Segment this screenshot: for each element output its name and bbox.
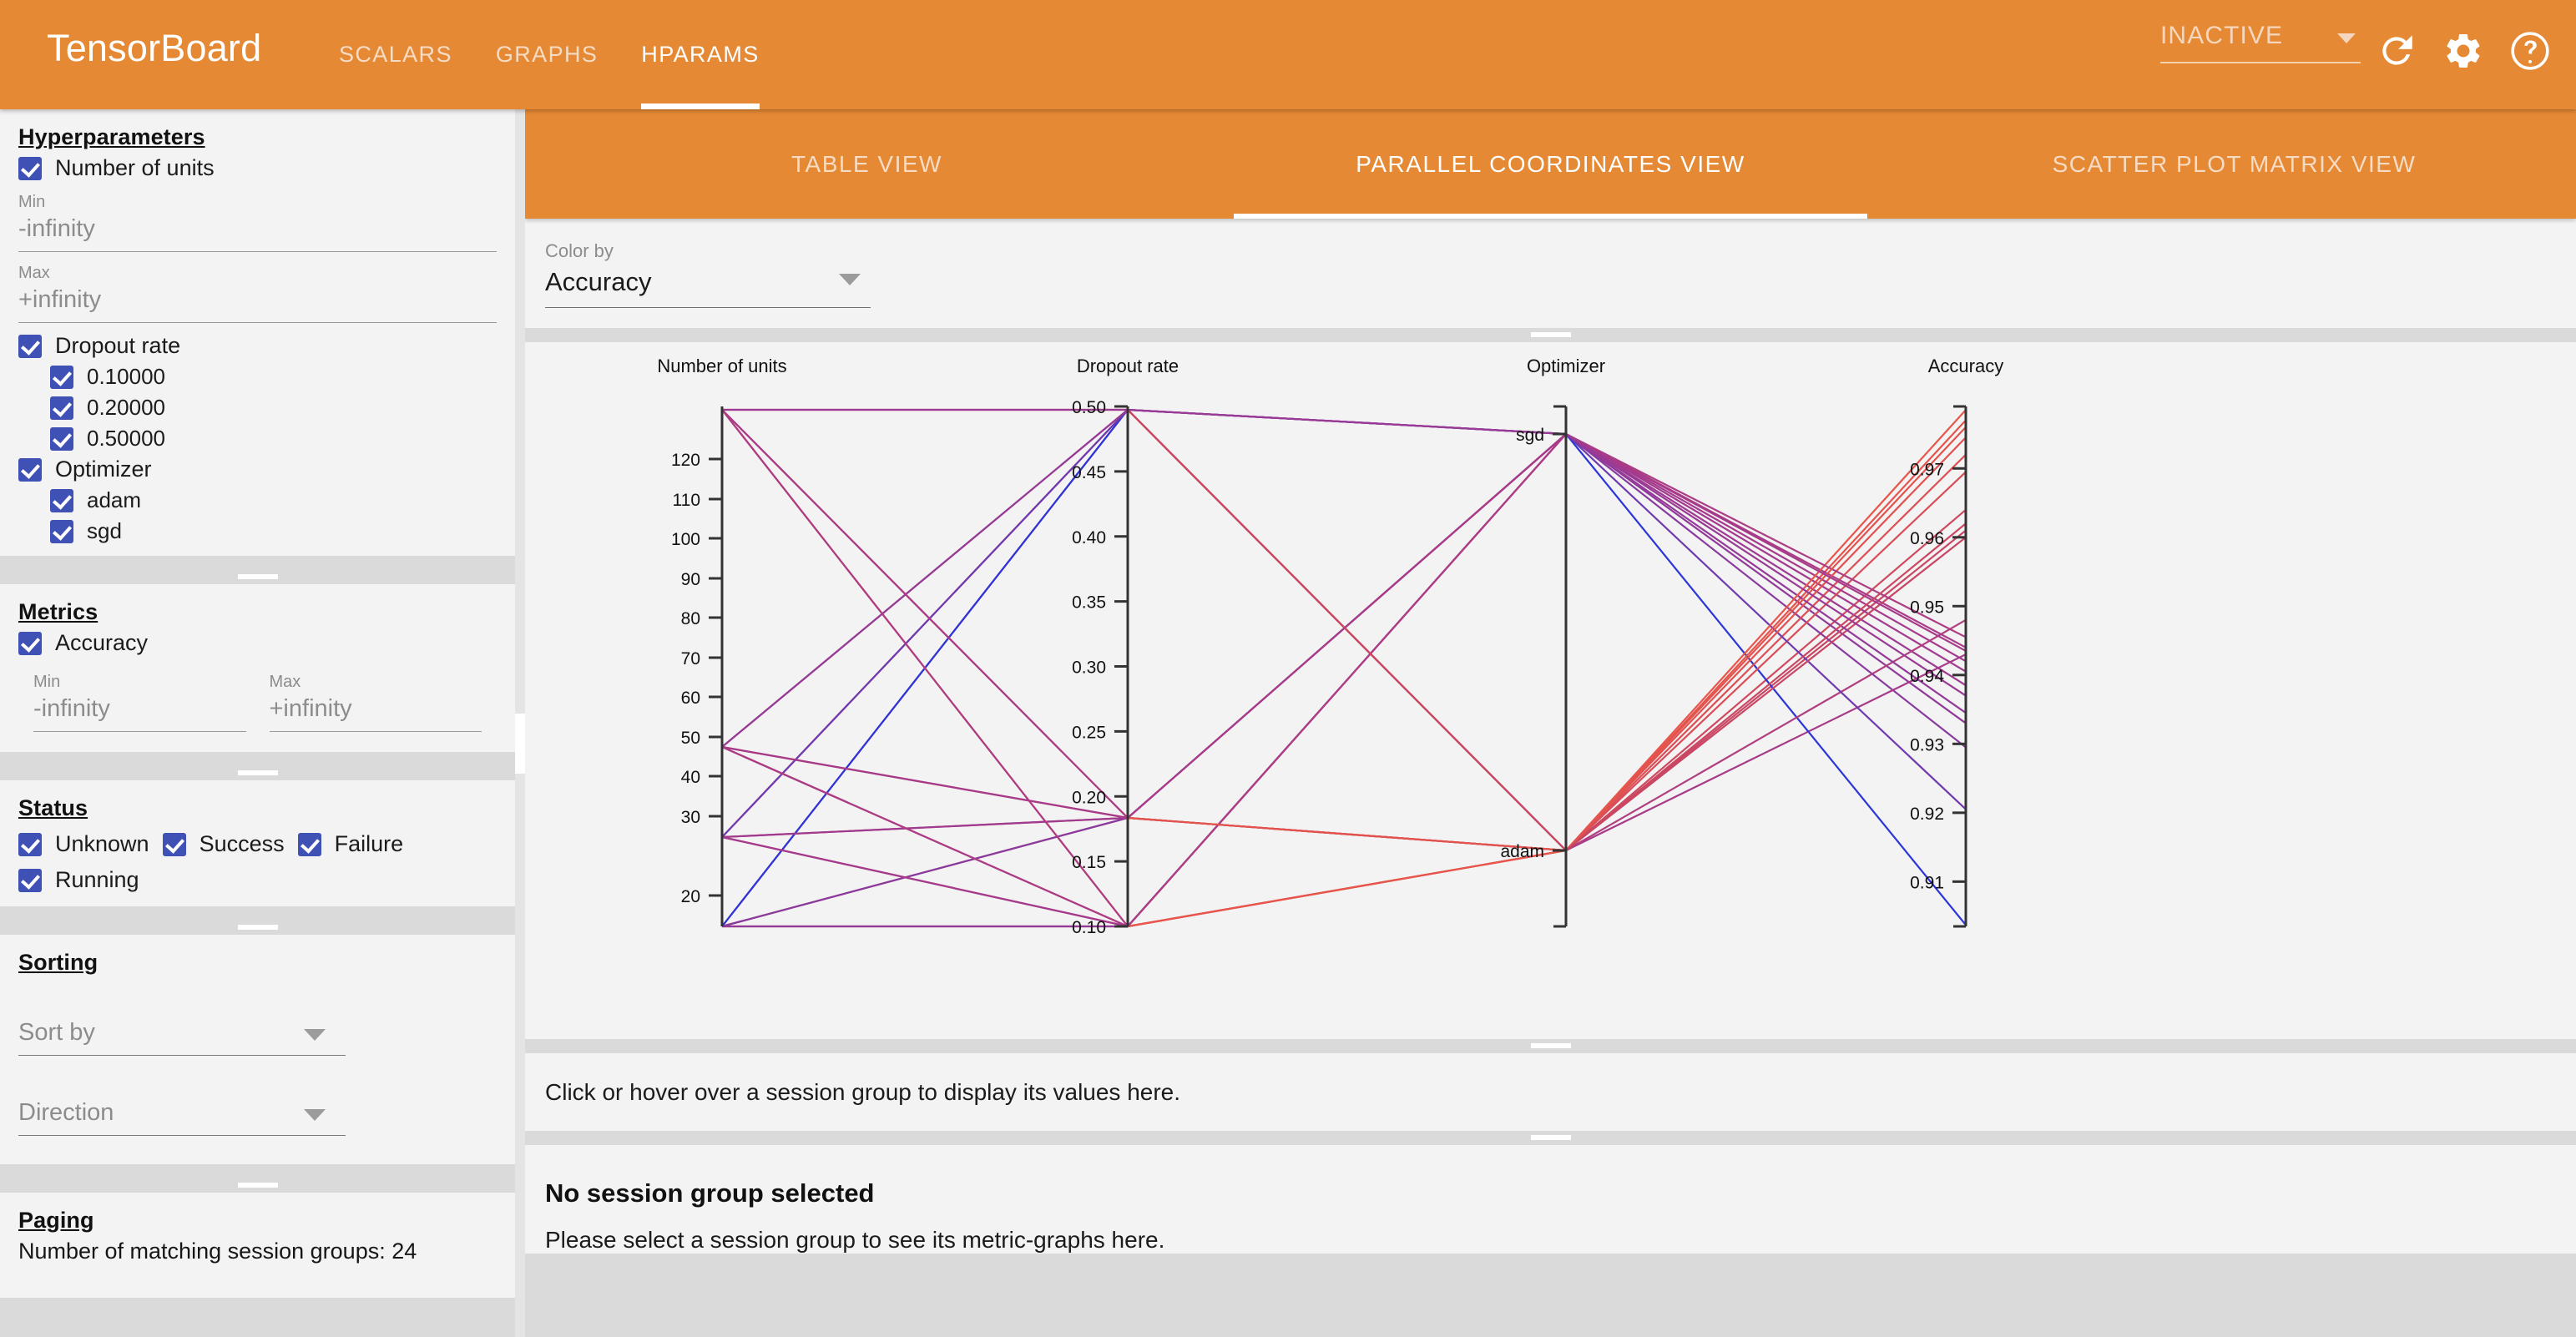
dropout-option-label: 0.50000 [87, 426, 165, 452]
metrics-title: Metrics [18, 599, 497, 625]
status-option-failure[interactable]: Failure [298, 831, 404, 857]
direction-select[interactable]: Direction [18, 1099, 346, 1136]
checkbox-status-failure[interactable] [298, 833, 321, 856]
tensorboard-app: TensorBoard SCALARS GRAPHS HPARAMS INACT… [0, 0, 2576, 1337]
chart-splitter-top[interactable] [525, 328, 2576, 342]
accuracy-max-input[interactable]: +infinity [270, 695, 482, 732]
axis-tick-label: 120 [671, 451, 700, 470]
chevron-down-icon [304, 1109, 326, 1121]
pcp-session-line[interactable] [722, 410, 1966, 696]
status-option-label: Running [55, 867, 139, 893]
axis-tick-label: 0.25 [1072, 723, 1106, 742]
axis-tick-label: 0.30 [1072, 658, 1106, 678]
axis-category-label: adam [1500, 842, 1544, 861]
status-checkbox-group: Unknown Success Failure Running [18, 826, 497, 898]
accuracy-max-label: Max [270, 673, 482, 692]
main-nav-tabs: SCALARS GRAPHS HPARAMS [317, 0, 781, 109]
hparam-number-of-units-label: Number of units [55, 155, 215, 181]
checkbox-dropout-0.20000[interactable] [50, 396, 73, 420]
pcp-session-line[interactable] [722, 472, 1966, 850]
color-by-label: Color by [545, 240, 871, 262]
direction-value: Direction [18, 1099, 346, 1136]
axis-tick-label: 0.91 [1910, 873, 1944, 892]
reload-icon[interactable] [2376, 30, 2417, 72]
dropout-option-row[interactable]: 0.20000 [50, 395, 497, 421]
axis-tick-label: 20 [681, 887, 700, 906]
axis-tick-label: 40 [681, 768, 700, 787]
optimizer-option-row[interactable]: sgd [50, 518, 497, 544]
axis-title-accuracy: Accuracy [1928, 356, 2003, 376]
dropout-option-row[interactable]: 0.10000 [50, 364, 497, 390]
checkbox-optimizer-sgd[interactable] [50, 520, 73, 543]
axis-tick-label: 70 [681, 649, 700, 668]
hparam-optimizer-label: Optimizer [55, 457, 152, 482]
units-min-field[interactable]: Min -infinity [18, 193, 497, 252]
optimizer-option-row[interactable]: adam [50, 487, 497, 513]
accuracy-min-field[interactable]: Min -infinity [33, 673, 246, 732]
brand-title: TensorBoard [47, 27, 261, 70]
hyperparameters-card: Hyperparameters Number of units Min -inf… [0, 109, 515, 556]
nav-tab-graphs[interactable]: GRAPHS [474, 0, 619, 109]
axis-tick-label: 0.96 [1910, 529, 1944, 548]
status-option-label: Unknown [55, 831, 149, 857]
status-card: Status Unknown Success Failure Running [0, 780, 515, 906]
status-option-label: Success [200, 831, 285, 857]
axis-tick-label: 0.95 [1910, 598, 1944, 617]
checkbox-number-of-units[interactable] [18, 157, 42, 180]
parallel-coordinates-plot[interactable]: Number of units2030405060708090100110120… [525, 342, 2576, 1039]
chevron-down-icon [2337, 33, 2356, 43]
axis-tick-label: 100 [671, 530, 700, 549]
tab-parallel-coordinates-view[interactable]: PARALLEL COORDINATES VIEW [1209, 109, 1892, 219]
accuracy-min-input[interactable]: -infinity [33, 695, 246, 732]
axis-tick-label: 0.94 [1910, 667, 1944, 686]
metric-accuracy-row[interactable]: Accuracy [18, 630, 497, 656]
sidebar-splitter-metrics[interactable] [0, 766, 515, 780]
metric-accuracy-label: Accuracy [55, 630, 148, 656]
filters-sidebar: Hyperparameters Number of units Min -inf… [0, 109, 515, 1337]
axis-tick-label: 0.15 [1072, 853, 1106, 872]
checkbox-dropout-0.50000[interactable] [50, 427, 73, 451]
axis-tick-label: 90 [681, 570, 700, 589]
axis-tick-label: 0.10 [1072, 918, 1106, 937]
tab-table-view[interactable]: TABLE VIEW [525, 109, 1209, 219]
units-max-label: Max [18, 264, 497, 283]
pcp-session-line[interactable] [722, 510, 1966, 926]
sidebar-splitter-hyperparameters[interactable] [0, 570, 515, 584]
nav-tab-scalars[interactable]: SCALARS [317, 0, 474, 109]
axis-tick-label: 110 [673, 491, 700, 510]
pcp-session-line[interactable] [722, 437, 1966, 850]
accuracy-max-field[interactable]: Max +infinity [270, 673, 482, 732]
color-by-card: Color by Accuracy [525, 219, 2576, 328]
checkbox-metric-accuracy[interactable] [18, 632, 42, 655]
axis-tick-label: 0.50 [1072, 398, 1106, 417]
dropout-option-label: 0.20000 [87, 395, 165, 421]
chart-splitter-bottom[interactable] [525, 1039, 2576, 1053]
axis-tick-label: 60 [681, 689, 700, 708]
units-max-field[interactable]: Max +infinity [18, 264, 497, 323]
axis-tick-label: 0.45 [1072, 463, 1106, 482]
pcp-session-line[interactable] [722, 455, 1966, 926]
metrics-card: Metrics Accuracy Min -infinity Max +infi… [0, 584, 515, 752]
axis-tick-label: 0.93 [1910, 735, 1944, 754]
units-min-input[interactable]: -infinity [18, 215, 497, 252]
units-max-input[interactable]: +infinity [18, 286, 497, 323]
chevron-down-icon [304, 1029, 326, 1041]
hparam-number-of-units-row[interactable]: Number of units [18, 155, 497, 181]
dropout-option-row[interactable]: 0.50000 [50, 426, 497, 452]
optimizer-option-label: adam [87, 487, 141, 513]
run-status-dropdown[interactable]: INACTIVE [2160, 22, 2361, 63]
optimizer-option-label: sgd [87, 518, 122, 544]
matching-session-groups-count: Number of matching session groups: 24 [18, 1239, 497, 1264]
hparam-dropout-rate-label: Dropout rate [55, 333, 180, 359]
axis-tick-label: 0.92 [1910, 805, 1944, 824]
sidebar-splitter-status[interactable] [0, 921, 515, 935]
axis-category-label: sgd [1516, 426, 1544, 445]
hover-hint-text: Click or hover over a session group to d… [545, 1079, 1180, 1106]
dropout-option-label: 0.10000 [87, 364, 165, 390]
top-app-bar: TensorBoard SCALARS GRAPHS HPARAMS INACT… [0, 0, 2576, 109]
tab-scatter-plot-matrix-view[interactable]: SCATTER PLOT MATRIX VIEW [1892, 109, 2576, 219]
metric-minmax-row: Min -infinity Max +infinity [18, 661, 497, 737]
status-option-unknown[interactable]: Unknown [18, 831, 149, 857]
accuracy-min-label: Min [33, 673, 246, 692]
hover-values-panel: Click or hover over a session group to d… [525, 1053, 2576, 1131]
checkbox-optimizer-adam[interactable] [50, 489, 73, 512]
status-option-success[interactable]: Success [163, 831, 285, 857]
checkbox-dropout-0.10000[interactable] [50, 366, 73, 389]
session-panel-title: No session group selected [545, 1178, 2576, 1208]
hyperparameters-title: Hyperparameters [18, 124, 497, 150]
checkbox-dropout-rate[interactable] [18, 335, 42, 358]
axis-tick-label: 0.35 [1072, 593, 1106, 613]
parallel-coordinates-chart-card: Number of units2030405060708090100110120… [525, 342, 2576, 1039]
checkbox-optimizer[interactable] [18, 458, 42, 482]
axis-title-optimizer: Optimizer [1527, 356, 1605, 376]
session-group-panel: No session group selected Please select … [525, 1145, 2576, 1254]
axis-tick-label: 0.40 [1072, 528, 1106, 547]
status-option-running[interactable]: Running [18, 867, 139, 893]
axis-title-number-of-units: Number of units [657, 356, 786, 376]
sorting-title: Sorting [18, 950, 497, 976]
hparam-dropout-rate-row[interactable]: Dropout rate [18, 333, 497, 359]
paging-card: Paging Number of matching session groups… [0, 1193, 515, 1298]
axis-tick-label: 80 [681, 609, 700, 628]
nav-tab-hparams[interactable]: HPARAMS [619, 0, 780, 109]
help-icon[interactable] [2509, 30, 2551, 72]
axis-title-dropout-rate: Dropout rate [1077, 356, 1179, 376]
paging-title: Paging [18, 1208, 497, 1234]
color-by-value: Accuracy [545, 267, 871, 308]
pcp-session-line[interactable] [722, 434, 1966, 837]
checkbox-status-running[interactable] [18, 869, 42, 892]
session-panel-subtitle: Please select a session group to see its… [545, 1227, 2576, 1254]
session-splitter[interactable] [525, 1131, 2576, 1145]
gear-icon[interactable] [2442, 30, 2484, 72]
view-tabs: TABLE VIEW PARALLEL COORDINATES VIEW SCA… [525, 109, 2576, 219]
checkbox-status-unknown[interactable] [18, 833, 42, 856]
pcp-session-line[interactable] [722, 410, 1966, 818]
chevron-down-icon [839, 274, 861, 285]
run-status-value: INACTIVE [2160, 22, 2361, 63]
sorting-card: Sorting Sort by Direction [0, 935, 515, 1164]
pcp-session-line[interactable] [722, 421, 1966, 926]
sort-by-value: Sort by [18, 1019, 346, 1056]
units-min-label: Min [18, 193, 497, 212]
hparam-optimizer-row[interactable]: Optimizer [18, 457, 497, 482]
axis-tick-label: 30 [681, 808, 700, 827]
status-title: Status [18, 795, 497, 821]
axis-tick-label: 0.97 [1910, 460, 1944, 479]
axis-tick-label: 50 [681, 729, 700, 748]
checkbox-status-success[interactable] [163, 833, 186, 856]
sidebar-width-drag-handle[interactable] [515, 714, 525, 774]
status-option-label: Failure [335, 831, 404, 857]
sidebar-splitter-sorting[interactable] [0, 1178, 515, 1193]
main-content: TABLE VIEW PARALLEL COORDINATES VIEW SCA… [525, 109, 2576, 1337]
color-by-select[interactable]: Color by Accuracy [545, 240, 871, 308]
sort-by-select[interactable]: Sort by [18, 1019, 346, 1056]
axis-tick-label: 0.20 [1072, 788, 1106, 807]
